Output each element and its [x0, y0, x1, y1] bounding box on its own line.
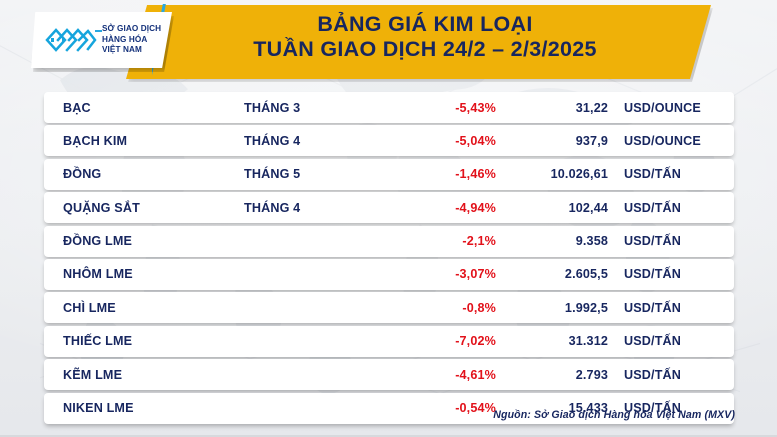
cell-commodity-name: BẠCH KIM	[44, 134, 244, 148]
table-row[interactable]: BẠCH KIMTHÁNG 4-5,04%937,9USD/OUNCE	[44, 125, 734, 156]
logo-card: SỞ GIAO DỊCH HÀNG HÓA VIỆT NAM	[31, 12, 172, 68]
logo-wordmark: SỞ GIAO DỊCH HÀNG HÓA VIỆT NAM	[102, 24, 161, 55]
cell-unit: USD/TẤN	[624, 201, 734, 215]
cell-change-percent: -4,61%	[384, 368, 504, 382]
cell-contract-month: THÁNG 5	[244, 167, 384, 181]
cell-price: 937,9	[504, 134, 624, 148]
cell-commodity-name: KẼM LME	[44, 368, 244, 382]
cell-price: 31,22	[504, 101, 624, 115]
cell-unit: USD/TẤN	[624, 368, 734, 382]
cell-change-percent: -2,1%	[384, 234, 504, 248]
logo-line-2: HÀNG HÓA	[102, 35, 161, 45]
table-row[interactable]: ĐỒNG LME-2,1%9.358USD/TẤN	[44, 226, 734, 257]
price-table: BẠCTHÁNG 3-5,43%31,22USD/OUNCEBẠCH KIMTH…	[44, 92, 734, 426]
cell-change-percent: -7,02%	[384, 334, 504, 348]
cell-price: 1.992,5	[504, 301, 624, 315]
cell-change-percent: -3,07%	[384, 267, 504, 281]
cell-commodity-name: NIKEN LME	[44, 401, 244, 415]
metal-price-board: BẢNG GIÁ KIM LOẠI TUẦN GIAO DỊCH 24/2 – …	[0, 0, 777, 437]
logo-line-1: SỞ GIAO DỊCH	[102, 24, 161, 34]
cell-change-percent: -0,54%	[384, 401, 504, 415]
cell-contract-month: THÁNG 4	[244, 134, 384, 148]
title-line-1: BẢNG GIÁ KIM LOẠI	[175, 12, 675, 37]
cell-contract-month: THÁNG 3	[244, 101, 384, 115]
cell-commodity-name: QUẶNG SẮT	[44, 201, 244, 215]
cell-change-percent: -4,94%	[384, 201, 504, 215]
cell-price: 2.793	[504, 368, 624, 382]
cell-commodity-name: BẠC	[44, 101, 244, 115]
cell-price: 102,44	[504, 201, 624, 215]
cell-unit: USD/TẤN	[624, 267, 734, 281]
logo-dash-icon	[95, 30, 102, 32]
cell-unit: USD/OUNCE	[624, 134, 734, 148]
cell-commodity-name: ĐỒNG LME	[44, 234, 244, 248]
table-row[interactable]: BẠCTHÁNG 3-5,43%31,22USD/OUNCE	[44, 92, 734, 123]
cell-unit: USD/TẤN	[624, 334, 734, 348]
cell-price: 10.026,61	[504, 167, 624, 181]
cell-unit: USD/TẤN	[624, 301, 734, 315]
source-note: Nguồn: Sở Giao dịch Hàng hóa Việt Nam (M…	[493, 409, 735, 421]
cell-unit: USD/TẤN	[624, 167, 734, 181]
table-row[interactable]: CHÌ LME-0,8%1.992,5USD/TẤN	[44, 292, 734, 323]
cell-commodity-name: NHÔM LME	[44, 267, 244, 281]
cell-change-percent: -1,46%	[384, 167, 504, 181]
table-row[interactable]: NHÔM LME-3,07%2.605,5USD/TẤN	[44, 259, 734, 290]
cell-contract-month: THÁNG 4	[244, 201, 384, 215]
cell-commodity-name: CHÌ LME	[44, 301, 244, 315]
cell-price: 9.358	[504, 234, 624, 248]
table-row[interactable]: QUẶNG SẮTTHÁNG 4-4,94%102,44USD/TẤN	[44, 192, 734, 223]
logo-line-3: VIỆT NAM	[102, 45, 161, 55]
page-title: BẢNG GIÁ KIM LOẠI TUẦN GIAO DỊCH 24/2 – …	[175, 12, 675, 63]
cell-unit: USD/TẤN	[624, 234, 734, 248]
header: BẢNG GIÁ KIM LOẠI TUẦN GIAO DỊCH 24/2 – …	[0, 0, 777, 84]
cell-unit: USD/OUNCE	[624, 101, 734, 115]
table-row[interactable]: KẼM LME-4,61%2.793USD/TẤN	[44, 359, 734, 390]
cell-price: 31.312	[504, 334, 624, 348]
cell-change-percent: -5,04%	[384, 134, 504, 148]
title-line-2: TUẦN GIAO DỊCH 24/2 – 2/3/2025	[175, 37, 675, 62]
cell-commodity-name: ĐỒNG	[44, 167, 244, 181]
cell-change-percent: -0,8%	[384, 301, 504, 315]
cell-commodity-name: THIẾC LME	[44, 334, 244, 348]
table-row[interactable]: THIẾC LME-7,02%31.312USD/TẤN	[44, 326, 734, 357]
cell-change-percent: -5,43%	[384, 101, 504, 115]
cell-price: 2.605,5	[504, 267, 624, 281]
mxv-chevron-logo-icon	[43, 23, 97, 57]
table-row[interactable]: ĐỒNGTHÁNG 5-1,46%10.026,61USD/TẤN	[44, 159, 734, 190]
